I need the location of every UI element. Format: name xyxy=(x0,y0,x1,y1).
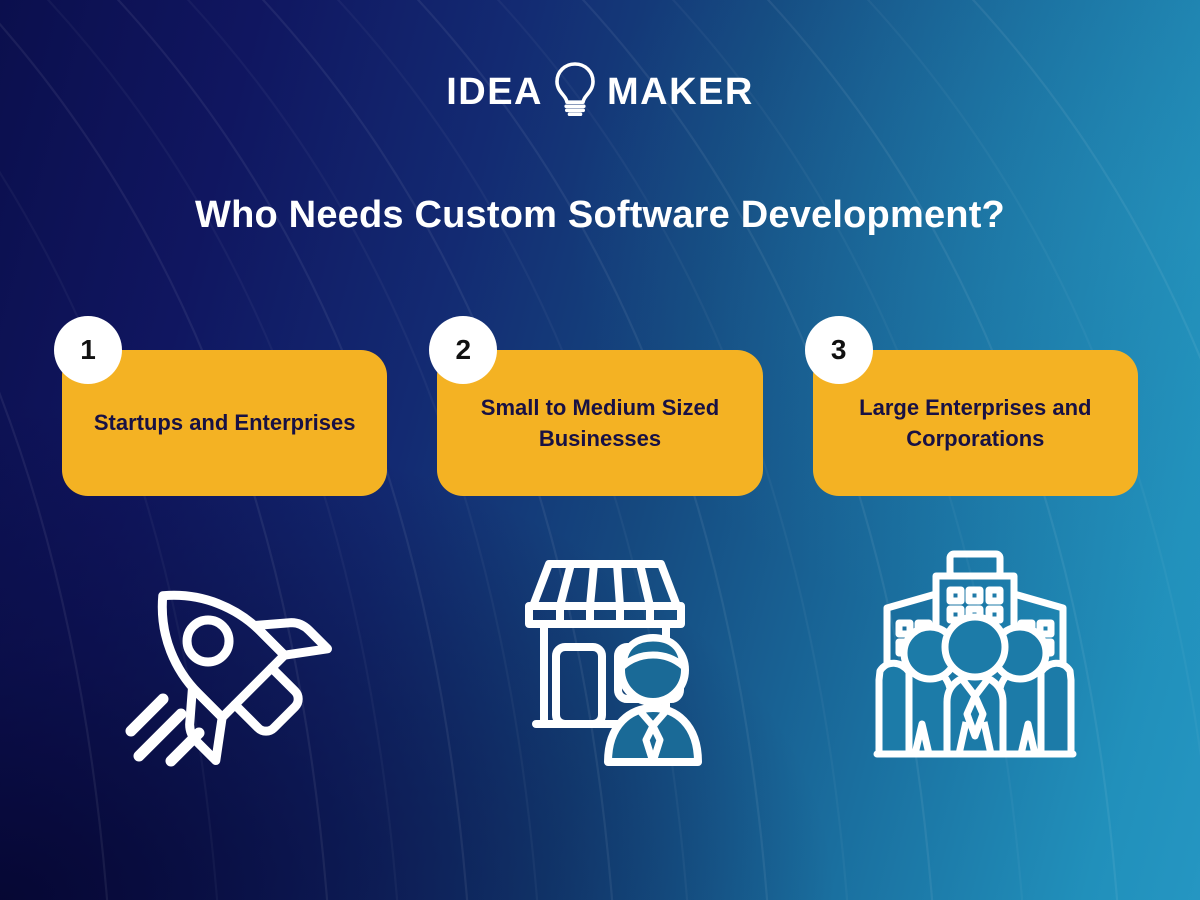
rocket-icon xyxy=(115,548,335,768)
card-row: Startups and Enterprises 1 Small to Medi… xyxy=(62,350,1138,496)
infographic-canvas: IDEA MAKER Who Needs Custom Software Dev… xyxy=(0,0,1200,900)
card-1[interactable]: Startups and Enterprises 1 xyxy=(62,350,387,496)
corporate-team-building-icon xyxy=(865,546,1085,771)
card-2-label: Small to Medium Sized Businesses xyxy=(455,392,744,454)
card-1-number-badge: 1 xyxy=(54,316,122,384)
page-title: Who Needs Custom Software Development? xyxy=(0,193,1200,239)
card-2[interactable]: Small to Medium Sized Businesses 2 xyxy=(437,350,762,496)
lightbulb-icon xyxy=(551,60,599,123)
icon-cell-2 xyxy=(437,528,762,788)
storefront-shopkeeper-icon xyxy=(490,548,710,768)
brand-logo: IDEA MAKER xyxy=(0,60,1200,123)
card-1-label: Startups and Enterprises xyxy=(94,407,356,438)
card-3-number-badge: 3 xyxy=(805,316,873,384)
card-3[interactable]: Large Enterprises and Corporations 3 xyxy=(813,350,1138,496)
brand-word-maker: MAKER xyxy=(607,73,754,111)
icon-row xyxy=(62,528,1138,788)
brand-word-idea: IDEA xyxy=(446,73,543,111)
icon-cell-3 xyxy=(813,528,1138,788)
card-2-number-badge: 2 xyxy=(429,316,497,384)
icon-cell-1 xyxy=(62,528,387,788)
card-3-label: Large Enterprises and Corporations xyxy=(831,392,1120,454)
